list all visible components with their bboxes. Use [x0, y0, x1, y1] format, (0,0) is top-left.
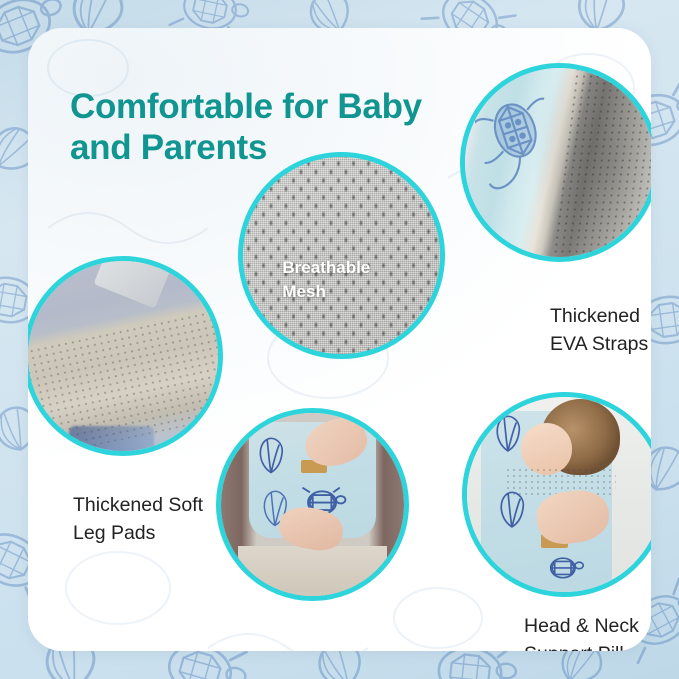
- leg-pad-strap-highlight: [93, 256, 172, 308]
- feature-circle-head-neck-pillow: [462, 392, 651, 597]
- feature-circle-leg-pads: [28, 256, 223, 456]
- caption-eva-straps: Thickened EVA Straps: [550, 303, 648, 358]
- leg-pad-blue-fabric-edge: [69, 426, 154, 456]
- content-card: Comfortable for Baby and Parents Breatha…: [28, 28, 651, 651]
- shell-print-icon: [493, 415, 523, 453]
- caption-head-neck-pillow: Head & Neck Support Pillow: [524, 613, 649, 651]
- turtle-print-icon: [537, 550, 589, 586]
- parent-pants: [238, 546, 388, 598]
- feature-circle-breathable-mesh: Breathable Mesh: [238, 152, 445, 359]
- head-neck-pillow-photo: [465, 395, 651, 594]
- eva-straps-photo: [463, 66, 651, 259]
- caption-leg-pads: Thickened Soft Leg Pads: [73, 492, 203, 547]
- infographic-canvas: Comfortable for Baby and Parents Breatha…: [0, 0, 679, 679]
- feature-circle-eva-straps: [460, 63, 651, 262]
- leg-pads-photo: [28, 259, 220, 453]
- turtle-print-icon: [475, 93, 564, 193]
- shell-print-icon: [256, 437, 286, 474]
- m-position-photo: [219, 411, 406, 598]
- feature-circle-m-position: [216, 408, 409, 601]
- breathable-mesh-overlay-label: Breathable Mesh: [282, 256, 370, 305]
- eva-foam-perforation-texture: [552, 66, 651, 259]
